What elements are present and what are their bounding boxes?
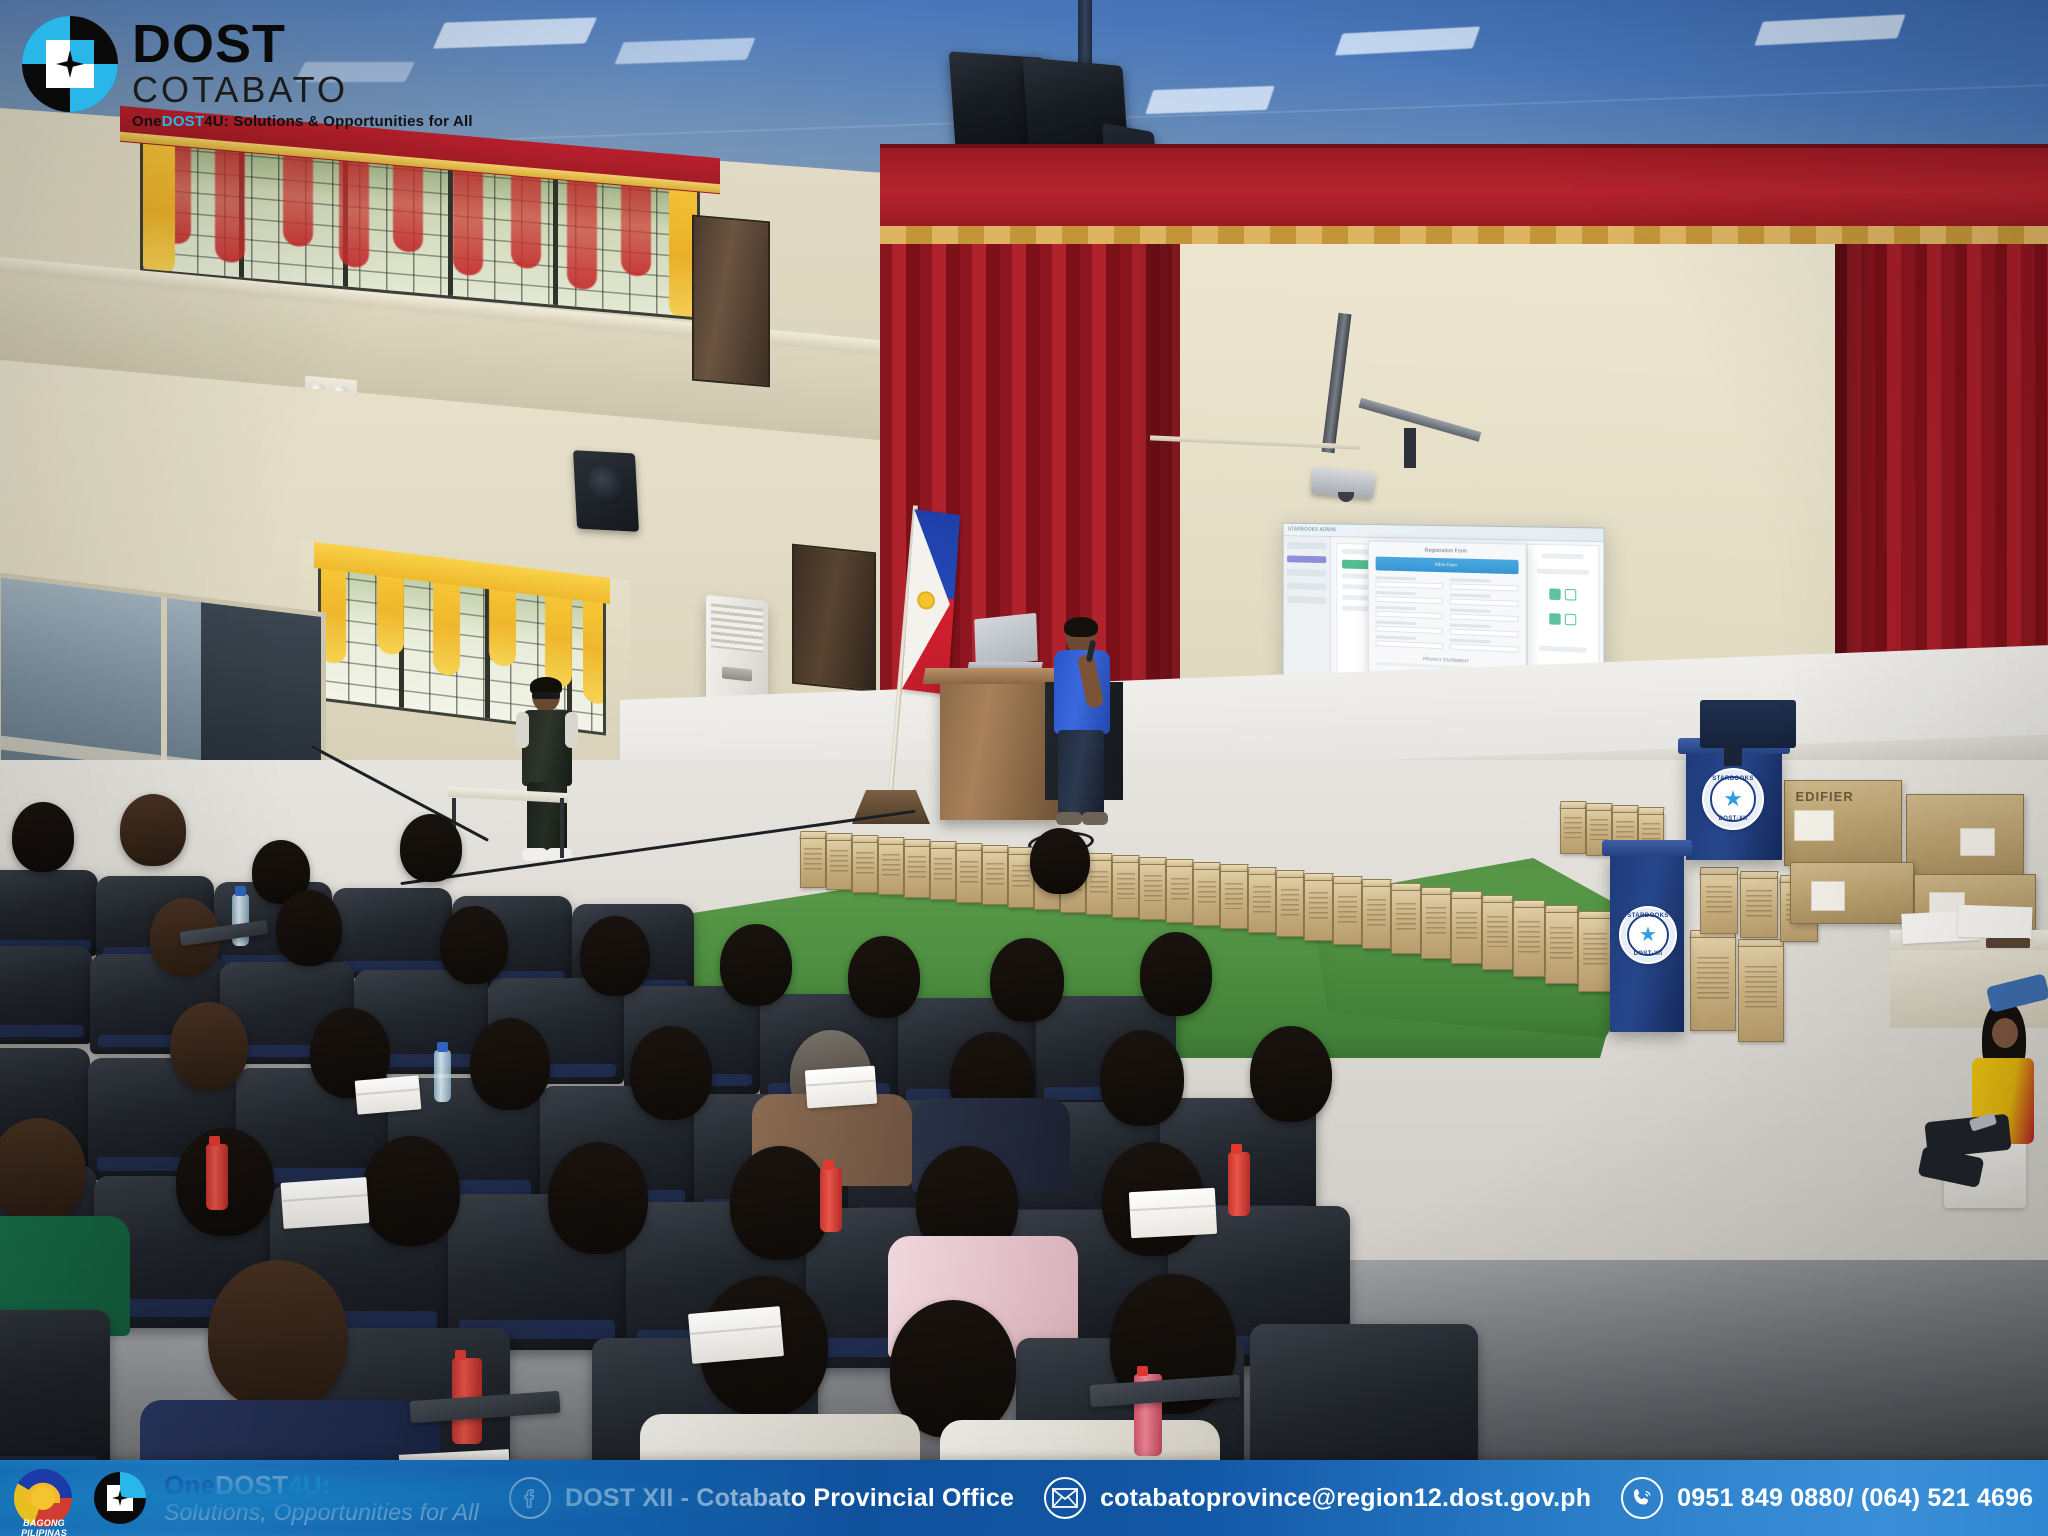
staff-member bbox=[516, 680, 578, 870]
attendee-head bbox=[1250, 1026, 1332, 1122]
header-tagline: OneDOST4U: Solutions & Opportunities for… bbox=[132, 113, 473, 130]
attendee-head bbox=[440, 906, 508, 984]
food-box bbox=[1129, 1188, 1217, 1238]
screenshot-root: STARBOOKS ADMIN bbox=[0, 0, 2048, 1536]
ceiling-light-panel bbox=[1335, 26, 1480, 55]
footer-brand-one: One bbox=[164, 1470, 215, 1500]
attendee-head bbox=[400, 814, 462, 882]
bagong-pilipinas-label: BAGONG PILIPINAS bbox=[8, 1518, 80, 1536]
box-brand-label: EDIFIER bbox=[1795, 789, 1853, 804]
email-address-label: cotabatoprovince@region12.dost.gov.ph bbox=[1100, 1484, 1591, 1513]
attendee-head bbox=[1030, 828, 1090, 894]
auditorium-seat bbox=[0, 870, 98, 956]
footer-seal-group: BAGONG PILIPINAS bbox=[0, 1469, 72, 1527]
starbooks-sign-stand: STARBOOKS ★ DOST-XII bbox=[1686, 750, 1782, 860]
equipment-box bbox=[1906, 794, 2024, 878]
attendee-head bbox=[12, 802, 74, 872]
projector-bracket bbox=[1404, 428, 1416, 468]
monitor-stand bbox=[1724, 748, 1742, 766]
attendee-head bbox=[1100, 1030, 1184, 1126]
facebook-page-label: DOST XII - Cotabato Provincial Office bbox=[565, 1484, 1014, 1513]
attendee-head bbox=[990, 938, 1064, 1022]
food-box bbox=[805, 1066, 877, 1109]
water-bottle bbox=[434, 1050, 451, 1102]
seated-attendee bbox=[1988, 960, 2048, 1080]
bagong-pilipinas-seal-icon: BAGONG PILIPINAS bbox=[14, 1469, 72, 1527]
equipment-box bbox=[1790, 862, 1914, 924]
audience-seating bbox=[0, 880, 1700, 1440]
upper-door bbox=[692, 215, 770, 388]
edifier-box: EDIFIER bbox=[1784, 780, 1902, 866]
speaker-mount-pole bbox=[1078, 0, 1092, 70]
facebook-icon[interactable] bbox=[509, 1477, 551, 1519]
attendee-head bbox=[170, 1002, 248, 1090]
presenter bbox=[1052, 620, 1112, 832]
ceiling-light-panel bbox=[615, 38, 756, 65]
tagline-one: One bbox=[132, 113, 162, 130]
attendee-head bbox=[362, 1136, 460, 1246]
header-org-name: DOST bbox=[132, 20, 473, 70]
attendee-head bbox=[848, 936, 920, 1018]
phone-number-label: 0951 849 0880/ (064) 521 4696 bbox=[1677, 1484, 2033, 1513]
starbooks-seal-top-text: STARBOOKS bbox=[1704, 776, 1762, 782]
food-box bbox=[355, 1075, 422, 1114]
footer-dost-logo-icon bbox=[94, 1472, 146, 1524]
dost-diamond-logo-icon bbox=[22, 16, 118, 112]
phone-icon[interactable] bbox=[1621, 1477, 1663, 1519]
attendee-head bbox=[580, 916, 650, 996]
event-photograph: STARBOOKS ADMIN bbox=[0, 0, 2048, 1536]
footer-brand-dost: DOST bbox=[215, 1470, 288, 1500]
attendee-head bbox=[208, 1260, 348, 1410]
attendee-head bbox=[120, 794, 186, 866]
attendee-head bbox=[276, 890, 342, 966]
projected-modal-title: Registration Form bbox=[1376, 547, 1519, 556]
food-box bbox=[688, 1306, 784, 1364]
footer-brand-block: OneDOST4U: Solutions, Opportunities for … bbox=[164, 1471, 479, 1525]
c2-bottle bbox=[1228, 1152, 1250, 1216]
wall-speaker bbox=[573, 450, 639, 532]
ceiling-light-panel bbox=[1145, 86, 1274, 114]
attendee-head bbox=[1140, 932, 1212, 1016]
c2-bottle bbox=[206, 1144, 228, 1210]
sunglasses-icon bbox=[532, 692, 560, 699]
attendee-head bbox=[0, 1118, 86, 1222]
projected-modal-button: Fill-in Form bbox=[1376, 557, 1519, 575]
stage-side-door bbox=[792, 544, 876, 693]
food-box bbox=[281, 1177, 370, 1229]
stage-valance-trim bbox=[880, 226, 2048, 244]
wooden-lectern bbox=[940, 680, 1062, 820]
laptop-screen bbox=[974, 613, 1038, 667]
auditorium-seat bbox=[0, 946, 92, 1044]
starbooks-seal-bottom-text: DOST-XII bbox=[1704, 816, 1762, 822]
starbooks-seal: STARBOOKS ★ DOST-XII bbox=[1702, 768, 1764, 830]
ceiling-light-panel bbox=[1754, 14, 1905, 45]
monitor bbox=[1700, 700, 1796, 748]
attendee-head bbox=[630, 1026, 712, 1120]
tagline-dost: DOST bbox=[162, 113, 204, 130]
header-org-branch: COTABATO bbox=[132, 72, 473, 108]
attendee-head bbox=[548, 1142, 648, 1254]
attendee-head bbox=[730, 1146, 830, 1260]
footer-brand-sub: Solutions, Opportunities for All bbox=[164, 1500, 479, 1525]
c2-bottle bbox=[820, 1168, 842, 1232]
footer-brand-4u: 4U: bbox=[288, 1470, 331, 1500]
document bbox=[1957, 905, 2032, 940]
footer-contact-bar: BAGONG PILIPINAS OneDOST4U: Solutions, O… bbox=[0, 1460, 2048, 1536]
attendee-head bbox=[720, 924, 792, 1006]
email-icon[interactable] bbox=[1044, 1477, 1086, 1519]
attendee-head bbox=[470, 1018, 550, 1110]
tagline-4u: 4U: Solutions & Opportunities for All bbox=[204, 113, 473, 130]
header-logo-overlay: DOST COTABATO OneDOST4U: Solutions & Opp… bbox=[22, 16, 473, 130]
auditorium-seat bbox=[332, 888, 452, 978]
phone bbox=[1986, 938, 2030, 948]
